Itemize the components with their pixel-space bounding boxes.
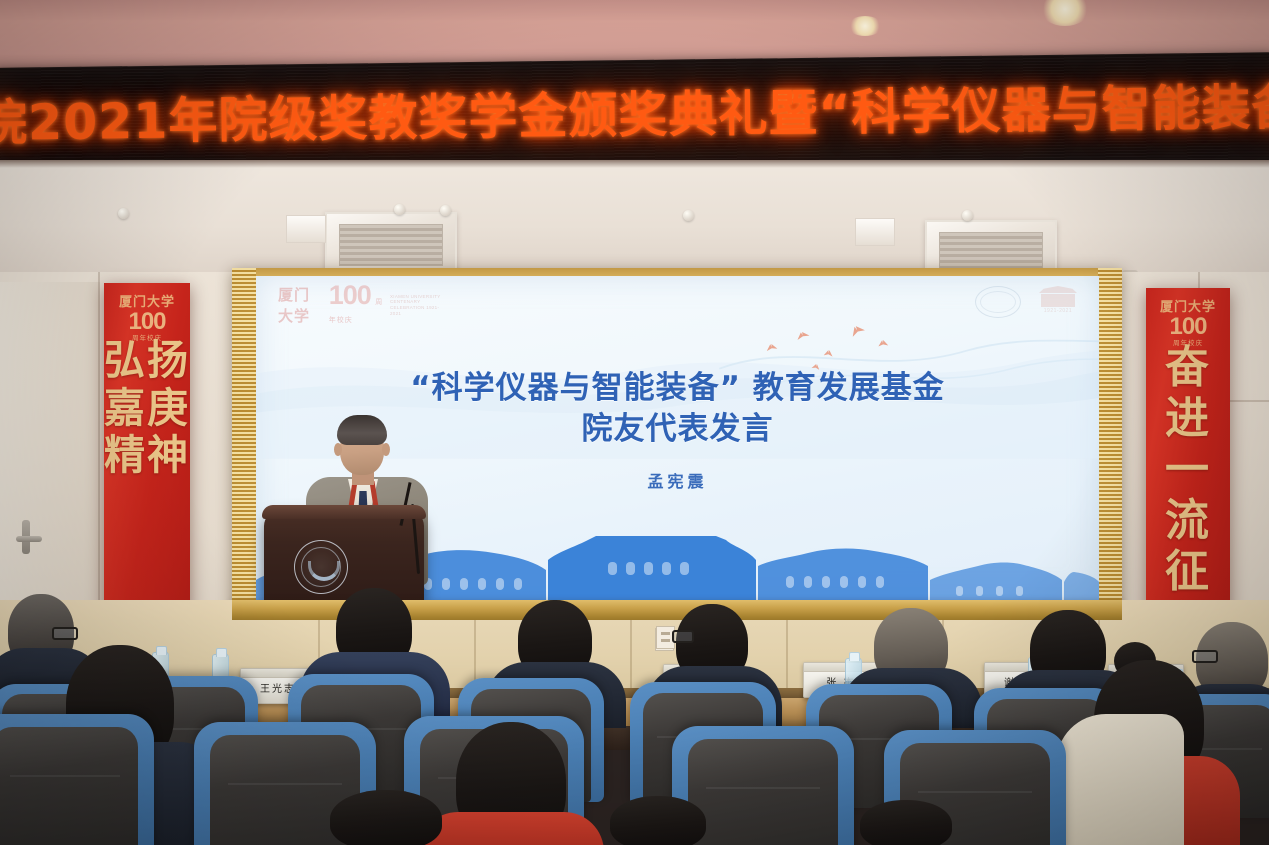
audience-head: [610, 796, 706, 845]
auditorium-photo: 院2021年院级奖教奖学金颁奖典礼暨“科学仪器与智能装备”教育: [0, 0, 1269, 845]
led-marquee-banner: 院2021年院级奖教奖学金颁奖典礼暨“科学仪器与智能装备”教育: [0, 52, 1269, 178]
ceiling-downlight: [440, 205, 451, 216]
side-door[interactable]: [0, 282, 100, 642]
slide-logo-top-right: 1921-2021: [975, 286, 1081, 318]
auditorium-seat[interactable]: [0, 714, 154, 845]
xmu-name-cn: 厦门大学: [278, 284, 325, 326]
centenary-number: 100: [329, 280, 371, 310]
banner-left-text: 弘扬嘉庚精神: [104, 337, 190, 480]
eyeglasses-icon: [672, 630, 694, 643]
ceiling-panel: [0, 160, 1269, 280]
ceiling-downlight: [394, 204, 405, 215]
lectern-top-surface: [262, 505, 426, 519]
speaker-ear: [334, 443, 342, 456]
ac-side-panel: [286, 215, 326, 243]
ceiling-downlight: [118, 208, 129, 219]
ceiling-downlight: [683, 210, 694, 221]
ceiling-downlight: [962, 210, 973, 221]
banner-right-logo: 厦门大学100 周年校庆: [1146, 296, 1230, 347]
banner-left: 厦门大学100 周年校庆 弘扬嘉庚精神: [104, 283, 190, 643]
centenary-number: 100: [1169, 315, 1206, 339]
centenary-en: XIAMEN UNIVERSITY CENTENARY CELEBRATION …: [390, 294, 450, 317]
xmu-seal-emblem-icon: [294, 540, 348, 594]
slide-title-line-1: “科学仪器与智能装备” 教育发展基金: [256, 368, 1099, 409]
stage-wall-seam: [630, 620, 632, 698]
ceiling-downlight: [848, 16, 882, 36]
centenary-number-block: [1041, 294, 1075, 307]
audience-shoulders: [418, 812, 604, 845]
ac-side-panel: [855, 218, 895, 246]
frame-fluted-strip-left: [232, 268, 256, 616]
roof-shape-icon: [1039, 286, 1077, 293]
eyeglasses-icon: [52, 627, 78, 640]
audience-head: [860, 800, 952, 845]
slide-logo-top-left: 厦门大学 100 周年校庆 XIAMEN UNIVERSITY CENTENAR…: [278, 288, 450, 322]
banner-left-logo: 厦门大学100 周年校庆: [104, 291, 190, 342]
speaker-hair: [337, 415, 387, 445]
audience-head: [330, 790, 442, 845]
centenary-years: 1921-2021: [1037, 308, 1079, 314]
stage-wall-seam: [786, 620, 788, 698]
speaker-ear: [382, 443, 390, 456]
seat-back-cushion: [0, 727, 138, 845]
frame-fluted-strip-right: [1098, 268, 1122, 616]
led-banner-text: 院2021年院级奖教奖学金颁奖典礼暨“科学仪器与智能装备”教育: [0, 68, 1269, 155]
audience-shoulders: [1056, 714, 1184, 845]
seat-back-cushion: [688, 739, 837, 845]
eyeglasses-icon: [1192, 650, 1218, 663]
centenary-logo-icon: 1921-2021: [1035, 286, 1081, 318]
xmu-seal-icon: [975, 286, 1021, 318]
door-handle-icon[interactable]: [16, 536, 42, 542]
centenary-number: 100: [128, 310, 165, 334]
lectern-podium: [264, 510, 424, 602]
